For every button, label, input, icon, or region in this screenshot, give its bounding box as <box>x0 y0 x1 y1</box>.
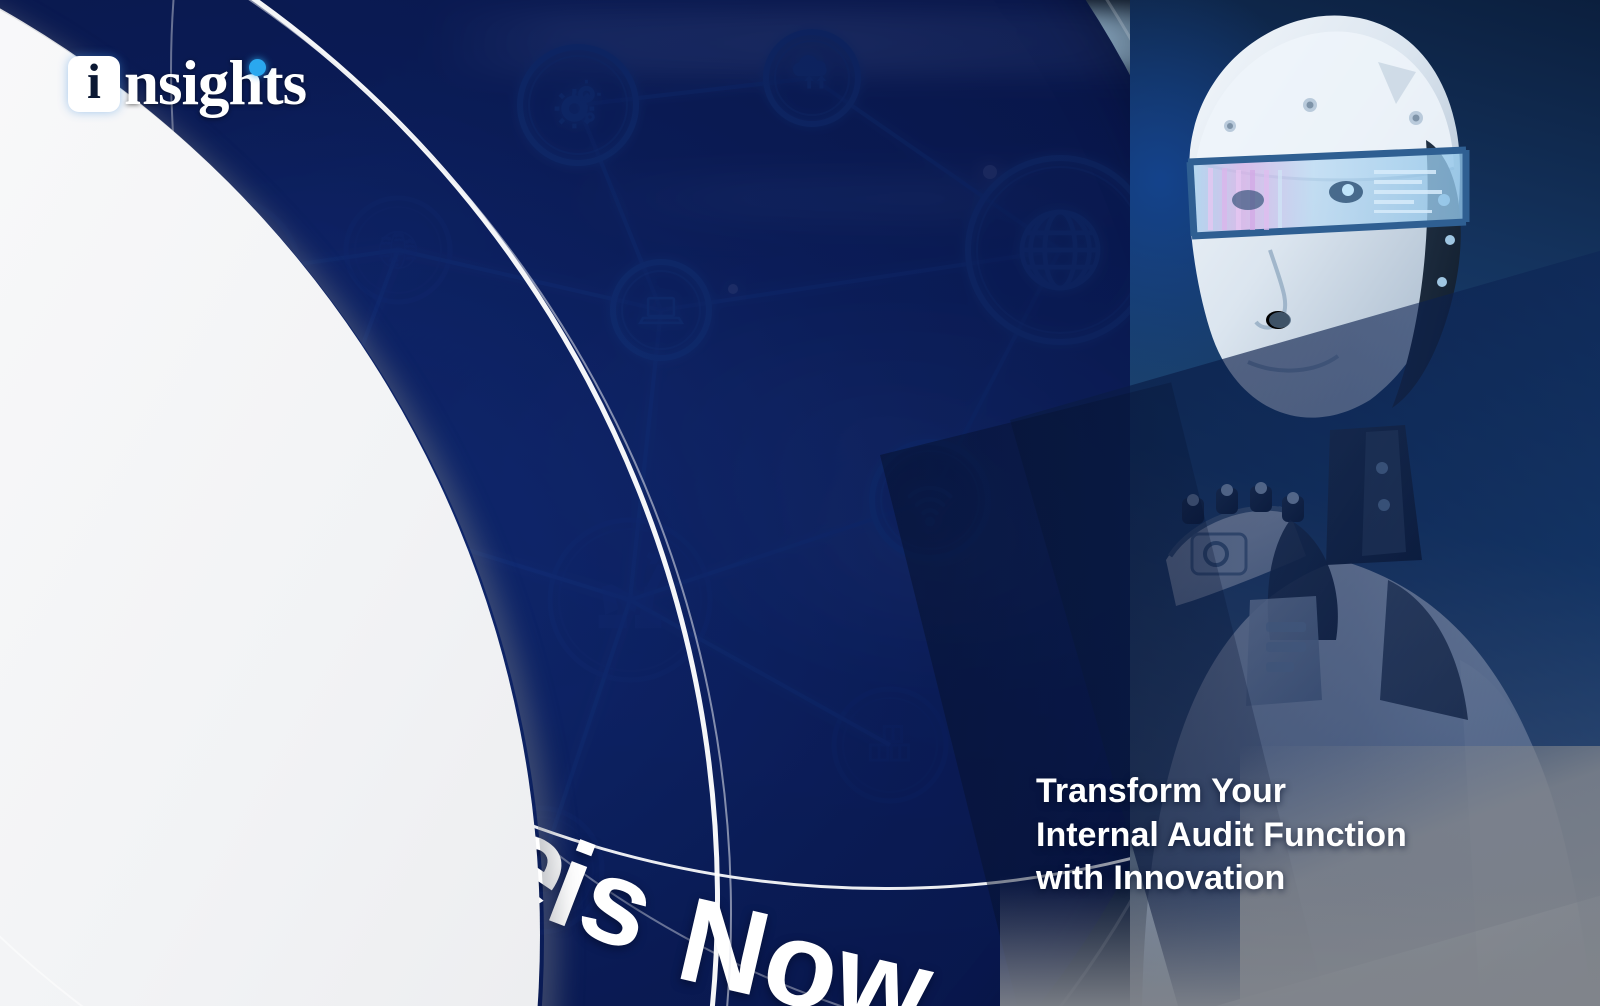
logo-wordmark: nsights <box>124 52 306 115</box>
tagline-line-3: with Innovation <box>1036 857 1536 901</box>
logo-badge-icon: i <box>68 56 120 112</box>
poster-canvas: The Future is Now <box>0 0 1600 1006</box>
tagline-line-1: Transform Your <box>1036 770 1536 814</box>
brand-logo[interactable]: i nsights <box>68 52 306 115</box>
tagline: Transform Your Internal Audit Function w… <box>1036 770 1536 901</box>
logo-accent-dot-icon <box>249 59 266 76</box>
logo-badge-letter: i <box>87 56 101 106</box>
tagline-line-2: Internal Audit Function <box>1036 814 1536 858</box>
